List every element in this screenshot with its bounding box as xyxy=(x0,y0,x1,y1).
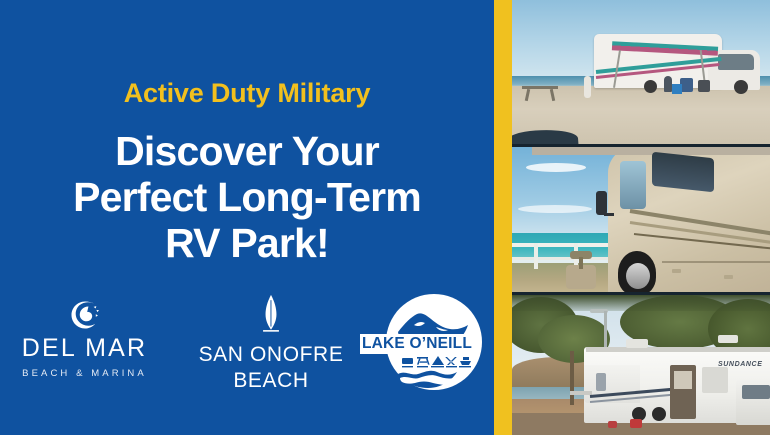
cloud xyxy=(526,163,586,172)
roof-ac-unit xyxy=(626,339,648,348)
lake-badge-icon xyxy=(384,292,484,392)
trailer-wheel xyxy=(652,407,666,421)
promo-banner: Active Duty Military Discover Your Perfe… xyxy=(0,0,770,435)
logo-lake-oneill[interactable]: LAKE O’NEILL xyxy=(383,292,485,392)
photo-lakeside-fifthwheel: SUNDANCE xyxy=(512,295,770,435)
rv-front-wheel xyxy=(734,80,748,94)
motorhome-side-window xyxy=(620,161,646,209)
utility-post xyxy=(584,76,591,98)
rv-rear-wheel xyxy=(644,80,657,93)
camper-person xyxy=(664,76,672,92)
surfboard-icon xyxy=(260,294,282,338)
logo-row: DEL MAR BEACH & MARINA SAN ONOFRE BEACH xyxy=(0,292,494,397)
trailer-brand-text: SUNDANCE xyxy=(718,361,764,369)
san-onofre-name: SAN ONOFRE BEACH xyxy=(199,342,344,393)
overhead-branches xyxy=(512,295,770,311)
wave-swirl-icon xyxy=(70,300,100,330)
camp-chair xyxy=(672,84,682,94)
bay-latch xyxy=(724,275,733,279)
trailer-roofline xyxy=(586,347,770,352)
trailer-door-window xyxy=(674,371,692,389)
truck-window xyxy=(742,385,770,399)
roof-ac-unit xyxy=(718,335,738,343)
yellow-divider-stripe xyxy=(494,0,512,435)
logo-del-mar[interactable]: DEL MAR BEACH & MARINA xyxy=(10,292,160,379)
trailer-window xyxy=(702,367,728,393)
headline: Discover Your Perfect Long-Term RV Park! xyxy=(32,129,462,267)
camp-gear xyxy=(630,419,642,428)
trailer-hitch xyxy=(570,391,592,395)
white-fence-rail xyxy=(512,243,616,273)
tree-trunk xyxy=(570,351,574,405)
del-mar-name: DEL MAR xyxy=(22,336,148,361)
storage-bay-line xyxy=(662,261,770,263)
photo-oceanfront-motorhome xyxy=(512,147,770,292)
campsite-gear-dark xyxy=(698,80,710,92)
rv-windshield xyxy=(718,54,754,70)
eyebrow-text: Active Duty Military xyxy=(124,80,371,107)
san-onofre-line-1: SAN ONOFRE xyxy=(199,342,344,368)
photo-beach-rv xyxy=(512,0,770,144)
photo-stack: SUNDANCE xyxy=(512,0,770,435)
awning-overhang xyxy=(532,147,770,155)
san-onofre-line-2: BEACH xyxy=(199,368,344,394)
trailer-window xyxy=(596,373,606,391)
del-mar-subtitle: BEACH & MARINA xyxy=(22,369,147,379)
cloud xyxy=(518,205,592,213)
chrome-hubcap xyxy=(626,263,650,289)
fence-post xyxy=(534,243,538,269)
camp-gear xyxy=(608,421,617,428)
headline-line-3: RV Park! xyxy=(32,221,462,267)
grill-post xyxy=(579,257,583,269)
motorhome-windshield xyxy=(652,152,714,193)
bay-latch xyxy=(672,269,681,273)
headline-line-1: Discover Your xyxy=(32,129,462,175)
headline-line-2: Perfect Long-Term xyxy=(32,175,462,221)
mirror-arm xyxy=(604,213,614,216)
picnic-table xyxy=(522,86,558,102)
side-mirror xyxy=(596,191,607,215)
left-content-panel: Active Duty Military Discover Your Perfe… xyxy=(0,0,494,435)
logo-san-onofre[interactable]: SAN ONOFRE BEACH xyxy=(204,292,339,393)
